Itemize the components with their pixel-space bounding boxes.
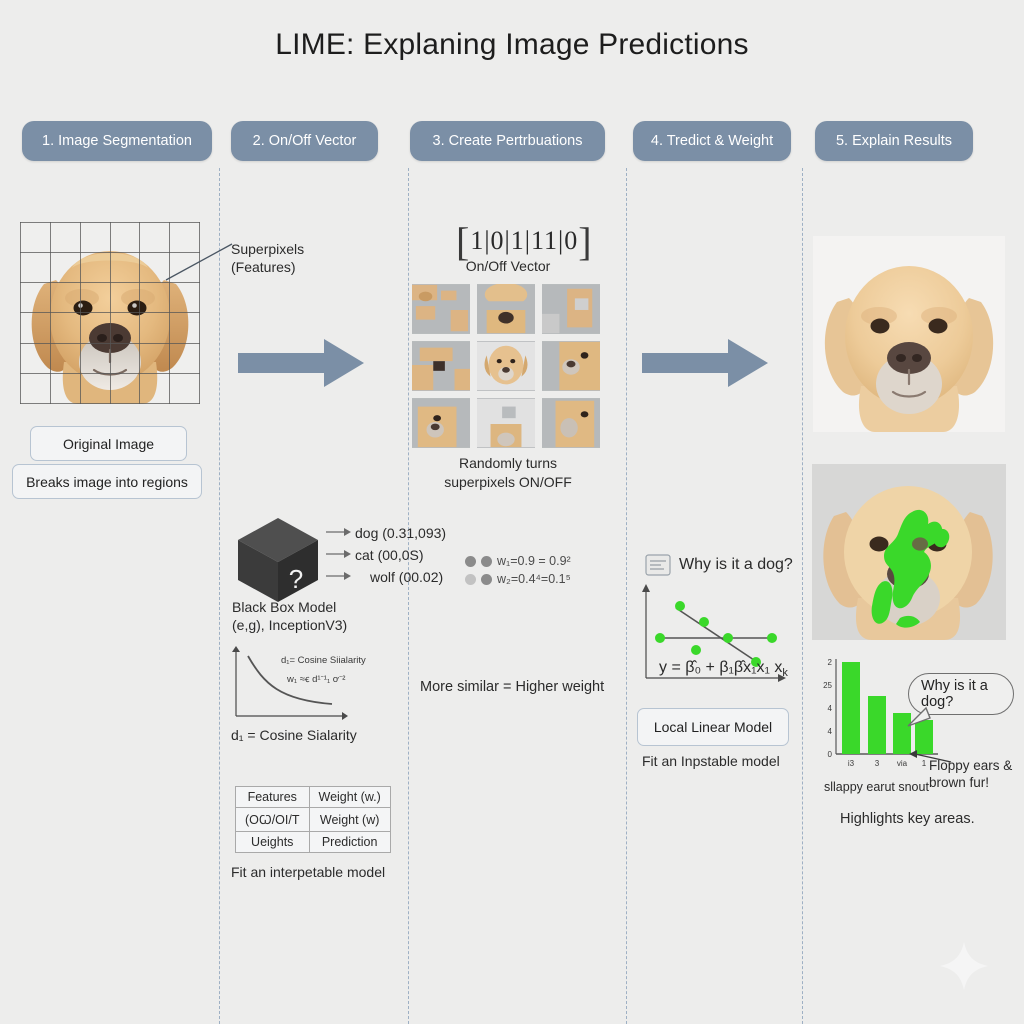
- model-output-wolf-score: (00.02): [399, 569, 443, 585]
- column-divider-2: [408, 168, 409, 1024]
- explanation-heatmap-image: [812, 464, 1006, 640]
- weight-dot-icon: [465, 556, 476, 567]
- vector-digit-3: 1: [511, 226, 525, 255]
- perturbation-thumb[interactable]: [412, 284, 470, 334]
- perturbation-thumb[interactable]: [477, 341, 535, 391]
- table-cell: Prediction: [309, 832, 390, 853]
- weight-dot-icon: [481, 556, 492, 567]
- svg-text:?: ?: [289, 564, 303, 594]
- similarity-note: More similar = Higher weight: [420, 678, 604, 696]
- model-output-dog-label: dog: [355, 525, 378, 541]
- vector-digit-4: 11: [531, 226, 558, 255]
- model-output-dog: dog (0.31,093): [355, 525, 446, 543]
- vector-digit-2: 0: [491, 226, 505, 255]
- perturbation-thumbnail-grid: [412, 284, 600, 448]
- perturbation-caption-line1: Randomly turns: [408, 454, 608, 473]
- kernel-note-line1: d₁= Cosine Siialarity: [281, 655, 366, 667]
- step-header-2[interactable]: 2. On/Off Vector: [231, 121, 378, 161]
- diagram-canvas: LIME: Explaning Image Predictions 1. Ima…: [0, 0, 1024, 1024]
- perturbation-thumb[interactable]: [412, 398, 470, 448]
- floppy-ears-annotation-line1: Floppy ears &: [929, 758, 1012, 775]
- svg-text:0: 0: [828, 750, 833, 759]
- model-output-cat-label: cat: [355, 547, 374, 563]
- vector-digit-1: 1: [470, 226, 484, 255]
- model-output-wolf: wolf (00.02): [370, 569, 443, 587]
- floppy-ears-annotation-line2: brown fur!: [929, 775, 1012, 792]
- table-cell: Features: [236, 787, 310, 808]
- table-cell: Weight (w): [309, 808, 390, 832]
- step-header-3[interactable]: 3. Create Pertrbuations: [410, 121, 605, 161]
- table-cell: (OꞶ/OI/T: [236, 808, 310, 832]
- model-output-cat-score: (00,0S): [378, 547, 424, 563]
- local-linear-equation: y = β̂₀ + β₁β̂x₁x₁ xk: [659, 658, 788, 681]
- weight-row-1-text: w₁=0.9 = 0.9²: [497, 554, 571, 568]
- kernel-axis-label: d₁ = Cosine Sialarity: [231, 727, 357, 745]
- arrow-segmentation-to-perturbations: [238, 337, 366, 389]
- perturbation-caption: Randomly turns superpixels ON/OFF: [408, 454, 608, 492]
- weight-dot-icon: [481, 574, 492, 585]
- speech-bubble-tail-icon: [900, 706, 934, 728]
- arrow-perturbations-to-results: [642, 337, 770, 389]
- black-box-caption-line1: Black Box Model: [232, 599, 347, 617]
- vector-digit-5: 0: [564, 226, 578, 255]
- column-divider-1: [219, 168, 220, 1024]
- step-header-4[interactable]: 4. Tredict & Weight: [633, 121, 791, 161]
- black-box-model-cube: ?: [232, 512, 324, 604]
- sparkle-icon: [938, 940, 990, 992]
- perturbation-thumb[interactable]: [542, 284, 600, 334]
- perturbation-thumb[interactable]: [542, 341, 600, 391]
- why-dog-question: Why is it a dog?: [679, 555, 793, 575]
- local-linear-equation-sub: k: [782, 667, 788, 679]
- weight-row-2-text: w₂=0.4⁴=0.1⁵: [497, 572, 571, 586]
- step-header-5[interactable]: 5. Explain Results: [815, 121, 973, 161]
- svg-text:2: 2: [828, 658, 833, 667]
- table-row: Ueights Prediction: [236, 832, 391, 853]
- svg-text:4: 4: [828, 727, 833, 736]
- svg-text:25: 25: [823, 681, 832, 690]
- column-divider-4: [802, 168, 803, 1024]
- breaks-image-box[interactable]: Breaks image into regions: [12, 464, 202, 499]
- svg-text:i3: i3: [848, 759, 855, 768]
- bar-chart-xaxis-label: sllappy earut snout: [824, 780, 929, 796]
- perturbation-caption-line2: superpixels ON/OFF: [408, 473, 608, 492]
- features-weights-table: Features Weight (w.) (OꞶ/OI/T Weight (w)…: [235, 786, 391, 853]
- weight-row-2: w₂=0.4⁴=0.1⁵: [465, 572, 571, 586]
- model-output-cat: cat (00,0S): [355, 547, 424, 565]
- table-row: Features Weight (w.): [236, 787, 391, 808]
- local-linear-equation-main: y = β̂₀ + β₁β̂x₁x₁ x: [659, 659, 782, 676]
- superpixels-annotation-line2: (Features): [231, 259, 361, 277]
- results-caption: Highlights key areas.: [840, 810, 975, 828]
- model-output-dog-score: (0.31,093): [382, 525, 446, 541]
- svg-text:3: 3: [875, 759, 880, 768]
- black-box-caption: Black Box Model (e,g), InceptionV3): [232, 599, 347, 634]
- superpixels-annotation: Superpixels (Features): [231, 241, 361, 276]
- local-linear-model-box[interactable]: Local Linear Model: [637, 708, 789, 746]
- weight-dot-icon: [465, 574, 476, 585]
- result-dog-image: [813, 236, 1005, 432]
- table-row: (OꞶ/OI/T Weight (w): [236, 808, 391, 832]
- perturbation-thumb[interactable]: [477, 284, 535, 334]
- explanation-document-icon: [645, 554, 671, 576]
- original-image-box[interactable]: Original Image: [30, 426, 187, 461]
- model-output-arrows: [324, 524, 352, 592]
- kernel-note-line2: w₁ ≈ꞓ d¹⁻¹₁ ơ⁻²: [287, 674, 345, 686]
- weight-row-1: w₁=0.9 = 0.9²: [465, 554, 571, 568]
- table-cell: Weight (w.): [309, 787, 390, 808]
- svg-text:4: 4: [828, 704, 833, 713]
- perturbation-thumb[interactable]: [542, 398, 600, 448]
- black-box-caption-line2: (e,g), InceptionV3): [232, 617, 347, 635]
- perturbation-thumb[interactable]: [412, 341, 470, 391]
- page-title: LIME: Explaning Image Predictions: [0, 28, 1024, 62]
- model-output-wolf-label: wolf: [370, 569, 395, 585]
- superpixels-annotation-line1: Superpixels: [231, 241, 361, 259]
- table-cell: Ueights: [236, 832, 310, 853]
- column-divider-3: [626, 168, 627, 1024]
- onoff-vector-label: On/Off Vector: [408, 258, 608, 276]
- perturbation-thumb[interactable]: [477, 398, 535, 448]
- local-linear-caption: Fit an Inpstable model: [642, 753, 780, 771]
- floppy-ears-annotation: Floppy ears & brown fur!: [929, 758, 1012, 792]
- table-caption: Fit an interpetable model: [231, 864, 385, 882]
- step-header-1[interactable]: 1. Image Segmentation: [22, 121, 212, 161]
